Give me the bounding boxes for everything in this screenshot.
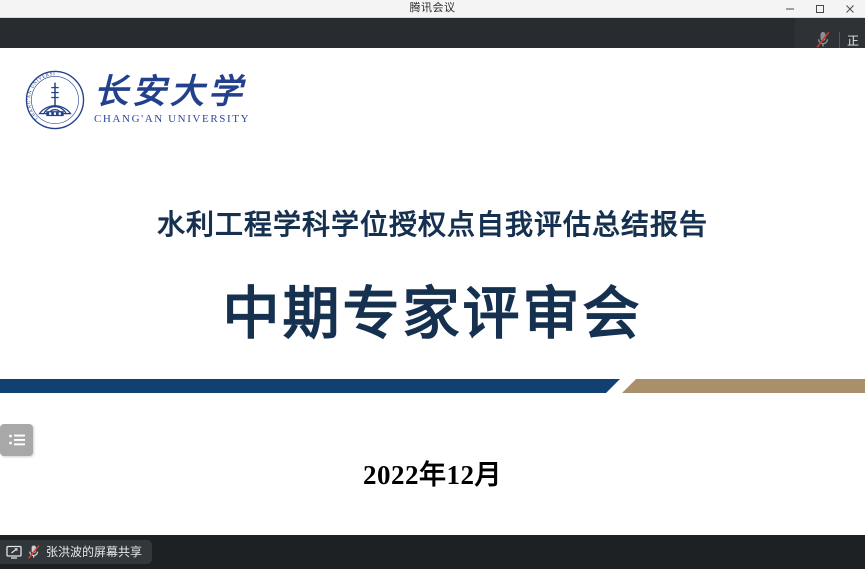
screen-share-indicator[interactable]: 张洪波的屏幕共享 [0,540,152,564]
university-logo: CHANG'AN UNIVERSITY 长安大学 CHANG'AN UNIVER… [24,69,250,131]
slide-divider-left [0,379,620,393]
logo-wordmark-en: CHANG'AN UNIVERSITY [94,113,250,125]
slide-date: 2022年12月 [0,453,865,492]
slide-divider-right [622,379,865,393]
window-controls [775,0,865,18]
close-button[interactable] [835,0,865,18]
list-menu-icon [8,433,26,447]
slide-main-title: 中期专家评审会 [0,268,865,350]
window-titlebar: 腾讯会议 [0,0,865,18]
microphone-muted-icon [27,544,41,560]
close-icon [844,3,856,15]
minimize-icon [784,3,796,15]
shared-screen-content: CHANG'AN UNIVERSITY 长安大学 CHANG'AN UNIVER… [0,48,865,535]
logo-wordmark-cn: 长安大学 [94,75,250,111]
window-title: 腾讯会议 [410,0,456,17]
meeting-toolbar [0,18,865,48]
bottom-status-bar: 张洪波的屏幕共享 [0,535,865,569]
microphone-muted-icon [815,30,831,50]
screen-share-icon-wrap [6,545,22,559]
screen-share-icon [6,545,22,559]
slide-subtitle: 水利工程学科学位授权点自我评估总结报告 [0,203,865,243]
slide-divider [0,379,865,393]
minimize-button[interactable] [775,0,805,18]
side-menu-button[interactable] [0,424,33,456]
maximize-button[interactable] [805,0,835,18]
mic-muted-icon-wrap [27,544,41,560]
logo-wordmark: 长安大学 CHANG'AN UNIVERSITY [94,75,250,125]
university-emblem-icon: CHANG'AN UNIVERSITY [24,69,86,131]
screen-share-label: 张洪波的屏幕共享 [46,543,142,561]
maximize-icon [814,3,826,15]
